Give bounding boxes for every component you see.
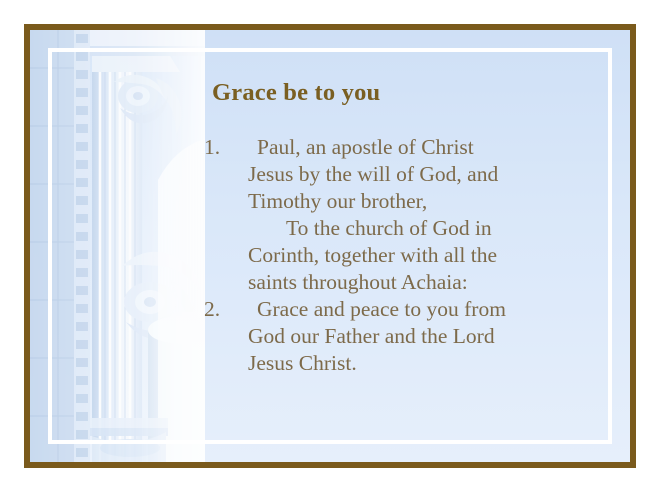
numbered-list: 1. Paul, an apostle of Christ Jesus by t…: [195, 134, 616, 377]
list-line: saints throughout Achaia:: [248, 269, 616, 296]
list-line: Paul, an apostle of Christ: [248, 134, 616, 161]
list-line: To the church of God in: [248, 215, 616, 242]
list-line: Grace and peace to you from: [248, 296, 616, 323]
list-item: 1. Paul, an apostle of Christ Jesus by t…: [195, 134, 616, 296]
page-title: Grace be to you: [212, 79, 380, 107]
list-line: God our Father and the Lord: [248, 323, 616, 350]
list-item-text: Paul, an apostle of Christ Jesus by the …: [248, 134, 616, 296]
list-line: Corinth, together with all the: [248, 242, 616, 269]
list-line: Timothy our brother,: [248, 188, 616, 215]
list-line: Jesus Christ.: [248, 350, 616, 377]
list-line: Jesus by the will of God, and: [248, 161, 616, 188]
slide-text-area: Grace be to you 1. Paul, an apostle of C…: [185, 52, 616, 440]
list-item-text: Grace and peace to you from God our Fath…: [248, 296, 616, 377]
list-item: 2. Grace and peace to you from God our F…: [195, 296, 616, 377]
list-item-marker: 1.: [204, 134, 238, 161]
classical-column-watermark-image: [30, 30, 205, 462]
slide-frame: Grace be to you 1. Paul, an apostle of C…: [24, 24, 636, 468]
slide-canvas: Grace be to you 1. Paul, an apostle of C…: [0, 0, 660, 495]
list-item-marker: 2.: [204, 296, 238, 323]
